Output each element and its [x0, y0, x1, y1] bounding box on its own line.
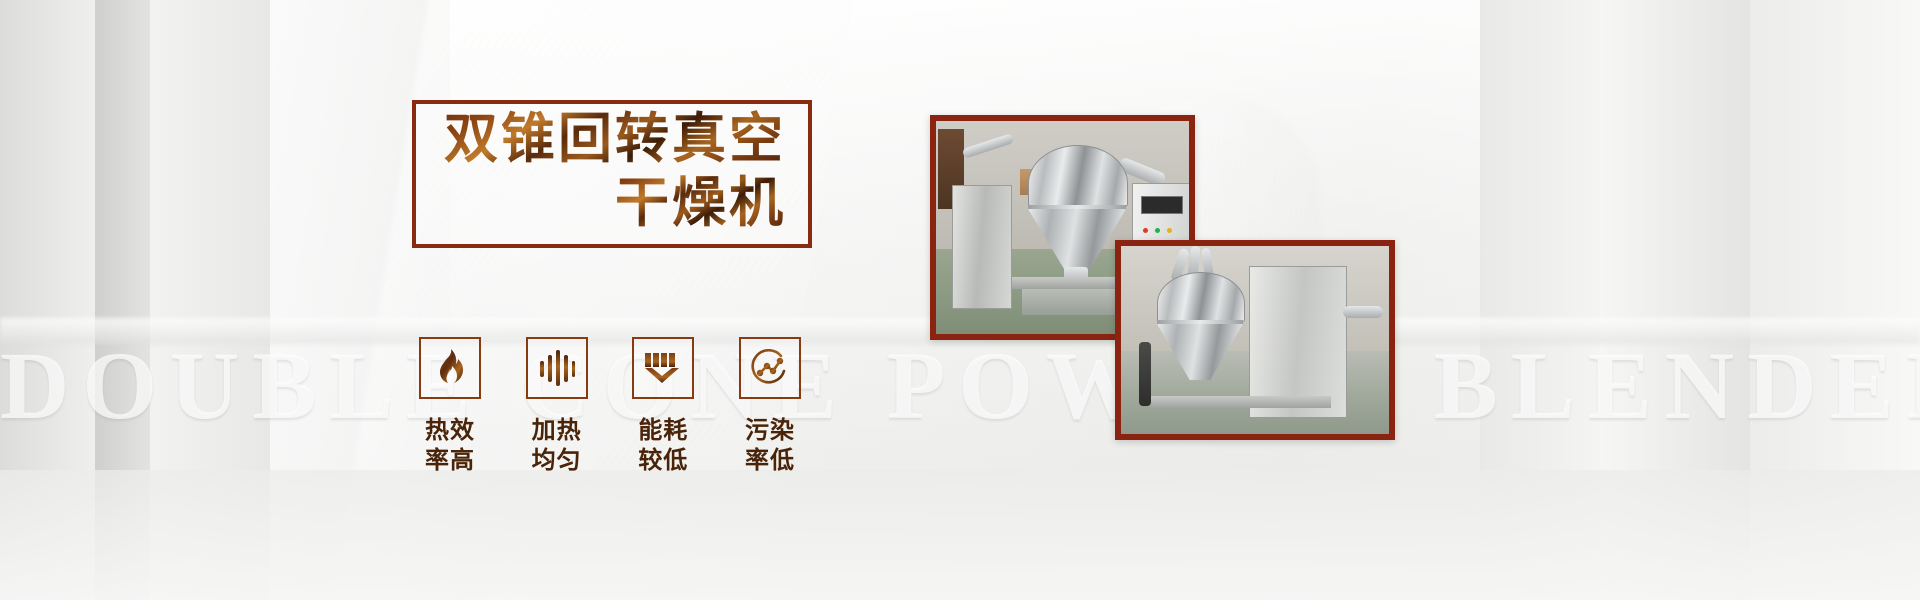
photo-detail-base: [1151, 396, 1331, 408]
feature-item-even-heating: 加热 均匀: [511, 337, 603, 475]
feature-list: 热效 率高: [404, 337, 816, 457]
feature-label-thermal-efficiency: 热效 率高: [425, 415, 475, 475]
flame-icon: [433, 349, 467, 387]
flame-icon-box: [419, 337, 481, 399]
descending-chart-icon-box: [632, 337, 694, 399]
photo-left-cabinet: [952, 185, 1012, 309]
feature-label-low-energy: 能耗 较低: [638, 415, 688, 475]
content-block: 双锥回转真空 干燥机: [0, 0, 900, 600]
page-title-line-1: 双锥回转真空: [444, 108, 786, 170]
network-circle-icon-box: [739, 337, 801, 399]
descending-chart-icon: [644, 351, 682, 385]
feature-item-thermal-efficiency: 热效 率高: [404, 337, 496, 475]
heat-bars-icon-box: [526, 337, 588, 399]
network-circle-icon: [751, 349, 789, 387]
feature-label-line-1: 能耗: [638, 415, 688, 445]
product-banner: DOUBLE CONE POWDER BLENDER 双锥回转真空 干燥机: [0, 0, 1920, 600]
photo-led-red: [1143, 228, 1148, 233]
feature-label-line-2: 率低: [745, 445, 795, 475]
feature-label-line-1: 加热: [532, 415, 582, 445]
feature-label-line-1: 热效: [425, 415, 475, 445]
photo-led-amber: [1167, 228, 1172, 233]
feature-item-low-pollution: 污染 率低: [724, 337, 816, 475]
feature-label-even-heating: 加热 均匀: [532, 415, 582, 475]
feature-label-line-2: 均匀: [532, 445, 582, 475]
feature-label-low-pollution: 污染 率低: [745, 415, 795, 475]
heat-bars-icon: [538, 348, 576, 388]
photo-detail-hose: [1139, 342, 1151, 406]
feature-item-low-energy: 能耗 较低: [617, 337, 709, 475]
product-photo-detail: [1115, 240, 1395, 440]
photo-detail-shaft: [1343, 306, 1383, 318]
title-box: 双锥回转真空 干燥机: [412, 100, 812, 248]
feature-label-line-2: 率高: [425, 445, 475, 475]
page-title-line-2: 干燥机: [615, 172, 786, 234]
feature-label-line-2: 较低: [638, 445, 688, 475]
photo-panel-display: [1141, 196, 1183, 214]
feature-label-line-1: 污染: [745, 415, 795, 445]
photo-led-green: [1155, 228, 1160, 233]
